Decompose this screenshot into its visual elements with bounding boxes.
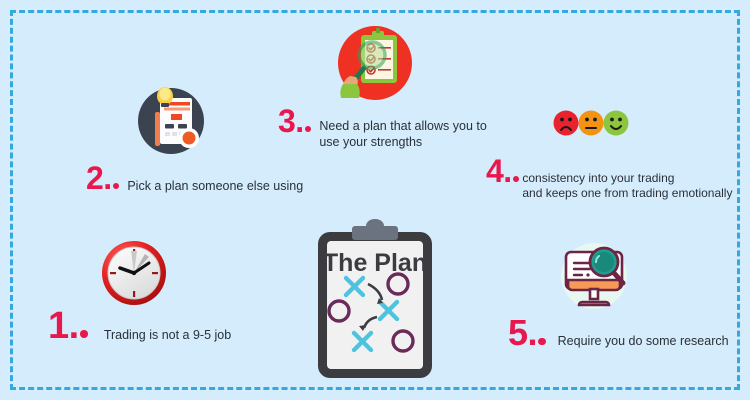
clipboard-plan-icon: The Plan — [300, 218, 450, 383]
list-item-4: 4. consistency into your trading and kee… — [486, 158, 732, 201]
research-monitor-icon — [552, 232, 636, 316]
bullet-dot-icon — [113, 183, 119, 189]
item-number-5: 5. — [508, 318, 546, 349]
item-number-4: 4. — [486, 158, 519, 185]
clock-icon — [98, 237, 170, 309]
infographic-canvas: The Plan 1. Trading is not a 9-5 job — [0, 0, 750, 400]
list-item-2: 2. Pick a plan someone else using — [86, 165, 303, 195]
item-text-2: Pick a plan someone else using — [127, 165, 303, 195]
item-text-3: Need a plan that allows you to use your … — [319, 108, 486, 150]
item-number-3: 3. — [278, 108, 311, 135]
bullet-dot-icon — [80, 330, 88, 338]
item-number-1: 1. — [48, 310, 88, 342]
item-text-1: Trading is not a 9-5 job — [104, 310, 231, 344]
item-text-5: Require you do some research — [558, 318, 729, 350]
item-number-2: 2. — [86, 165, 119, 192]
idea-document-icon — [134, 84, 208, 158]
checklist-magnifier-icon — [334, 22, 416, 104]
item-text-4: consistency into your trading and keeps … — [522, 158, 732, 201]
list-item-3: 3. Need a plan that allows you to use yo… — [278, 108, 487, 150]
smiley-faces-icon — [553, 108, 629, 138]
bullet-dot-icon — [305, 126, 311, 132]
bullet-dot-icon — [538, 338, 545, 345]
list-item-5: 5. Require you do some research — [508, 318, 729, 350]
list-item-1: 1. Trading is not a 9-5 job — [48, 310, 231, 344]
clipboard-title: The Plan — [323, 249, 427, 277]
bullet-dot-icon — [513, 176, 519, 182]
